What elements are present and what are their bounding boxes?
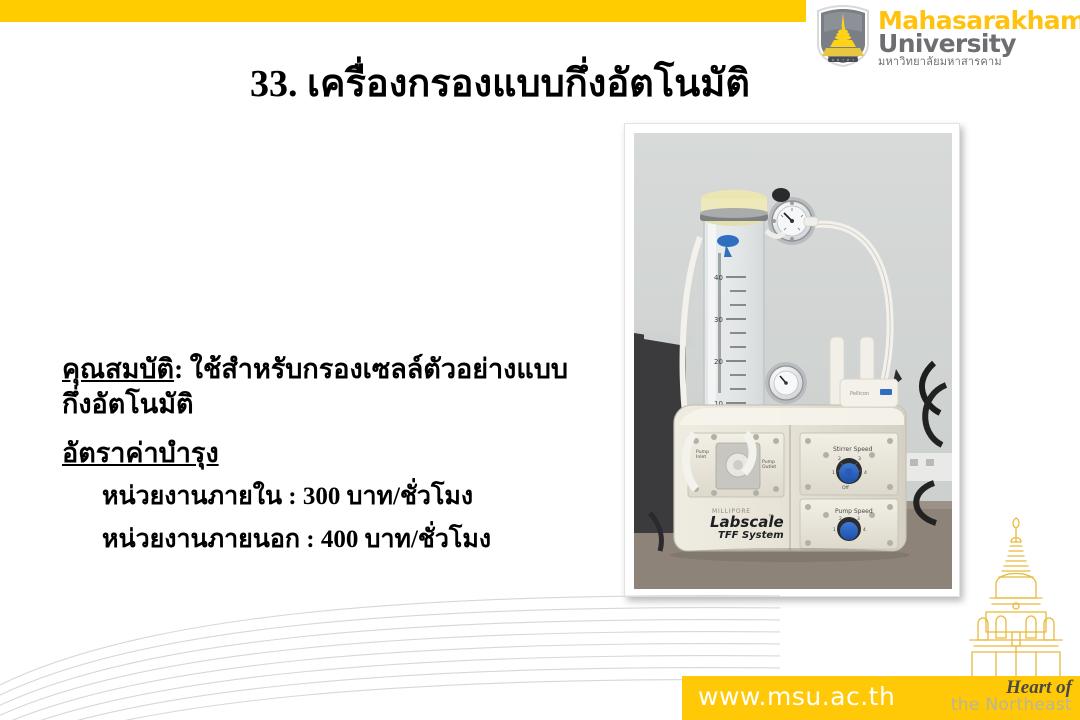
decorative-swoosh [0,580,780,720]
page-title: 33. เครื่องกรองแบบกึ่งอัตโนมัติ [0,52,1000,113]
svg-text:Outlet: Outlet [762,464,776,470]
rate-external: หน่วยงานภายนอก : 400 บาท/ชั่วโมง [102,524,602,557]
footer-website-url[interactable]: www.msu.ac.th [698,682,895,711]
svg-text:Stirrer Speed: Stirrer Speed [833,446,873,453]
svg-text:4: 4 [864,470,867,476]
property-paragraph: คุณสมบัติ: ใช้สำหรับกรองเซลล์ตัวอย่างแบบ [62,352,602,387]
svg-text:30: 30 [714,316,723,324]
presentation-slide: มหา สา Mahasarakham University มหาวิทยาล… [0,0,1080,720]
svg-text:3: 3 [858,456,861,462]
svg-text:1: 1 [833,527,836,533]
svg-text:2: 2 [839,516,842,522]
svg-text:20: 20 [714,358,723,366]
spacer [62,422,602,436]
svg-text:40: 40 [714,274,723,282]
svg-text:3: 3 [857,516,860,522]
svg-text:Pump Speed: Pump Speed [835,508,873,515]
property-label: คุณสมบัติ [62,354,174,384]
rate-internal: หน่วยงานภายใน : 300 บาท/ชั่วโมง [102,481,602,514]
svg-text:™: ™ [768,514,774,521]
svg-text:4: 4 [863,527,866,533]
property-line-2: กึ่งอัตโนมัติ [62,387,602,422]
tagline-line-2: the Northeast [951,697,1072,714]
svg-text:TFF System: TFF System [718,530,784,541]
content-body: คุณสมบัติ: ใช้สำหรับกรองเซลล์ตัวอย่างแบบ… [62,352,602,556]
equipment-photo-frame: 40 30 20 10 [624,123,960,597]
svg-text:2: 2 [838,456,841,462]
equipment-photo: 40 30 20 10 [634,133,952,589]
spacer [62,514,602,524]
top-accent-bar [0,0,806,22]
property-line-1: : ใช้สำหรับกรองเซลล์ตัวอย่างแบบ [174,354,568,384]
rate-heading: อัตราค่าบำรุง [62,436,602,471]
svg-text:Off: Off [842,485,850,491]
spacer [62,471,602,481]
svg-text:Pellicon: Pellicon [850,391,869,397]
svg-text:1: 1 [832,470,835,476]
footer-tagline: Heart of the Northeast [951,678,1072,715]
svg-text:Inlet: Inlet [696,454,706,460]
footer-bar: www.msu.ac.th Heart of the Northeast [682,676,1080,720]
